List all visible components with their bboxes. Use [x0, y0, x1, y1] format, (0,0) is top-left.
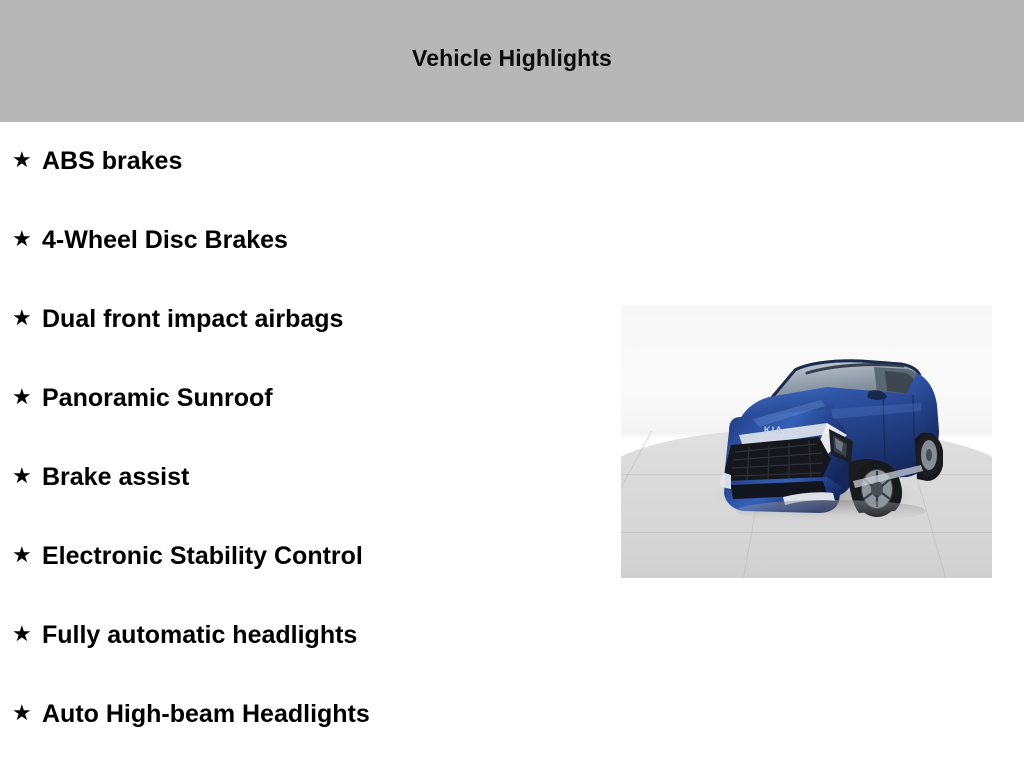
star-icon: ★	[12, 149, 42, 171]
list-item: ★ Dual front impact airbags	[0, 280, 600, 359]
highlight-label: Brake assist	[42, 464, 189, 492]
highlight-label: Auto High-beam Headlights	[42, 701, 370, 729]
highlight-label: Panoramic Sunroof	[42, 385, 273, 413]
list-item: ★ Electronic Stability Control	[0, 517, 600, 596]
highlight-label: ABS brakes	[42, 148, 182, 176]
list-item: ★ Panoramic Sunroof	[0, 359, 600, 438]
list-item: ★ Brake assist	[0, 438, 600, 517]
content-area: ★ ABS brakes ★ 4-Wheel Disc Brakes ★ Dua…	[0, 122, 1024, 768]
list-item: ★ ABS brakes	[0, 122, 600, 201]
highlight-label: Dual front impact airbags	[42, 306, 343, 334]
list-item: ★ Fully automatic headlights	[0, 596, 600, 675]
vehicle-photo-inner: KIA	[621, 305, 992, 578]
svg-text:KIA: KIA	[764, 425, 783, 435]
vehicle-highlights-list: ★ ABS brakes ★ 4-Wheel Disc Brakes ★ Dua…	[0, 122, 600, 754]
list-item: ★ Auto High-beam Headlights	[0, 675, 600, 754]
highlight-label: Fully automatic headlights	[42, 622, 357, 650]
vehicle-photo: KIA	[621, 305, 992, 578]
header-band: Vehicle Highlights	[0, 0, 1024, 122]
star-icon: ★	[12, 228, 42, 250]
star-icon: ★	[12, 386, 42, 408]
highlight-label: 4-Wheel Disc Brakes	[42, 227, 288, 255]
highlight-label: Electronic Stability Control	[42, 543, 363, 571]
star-icon: ★	[12, 544, 42, 566]
star-icon: ★	[12, 465, 42, 487]
page-title: Vehicle Highlights	[412, 47, 612, 76]
suv-illustration: KIA	[621, 305, 992, 578]
star-icon: ★	[12, 307, 42, 329]
list-item: ★ 4-Wheel Disc Brakes	[0, 201, 600, 280]
star-icon: ★	[12, 702, 42, 724]
star-icon: ★	[12, 623, 42, 645]
